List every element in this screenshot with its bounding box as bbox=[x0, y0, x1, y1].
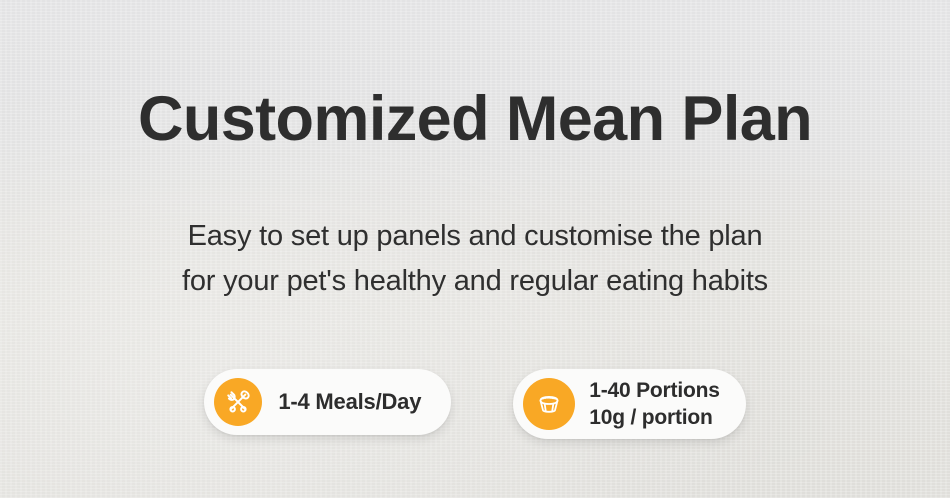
badge-meals-per-day[interactable]: 1-4 Meals/Day bbox=[204, 369, 451, 435]
badge-portions-line-1: 1-40 Portions bbox=[589, 377, 719, 404]
hero-subtitle-line-2: for your pet's healthy and regular eatin… bbox=[0, 259, 950, 304]
badge-portions[interactable]: 1-40 Portions 10g / portion bbox=[513, 369, 745, 439]
hero-subtitle-line-1: Easy to set up panels and customise the … bbox=[0, 214, 950, 259]
hero-subtitle: Easy to set up panels and customise the … bbox=[0, 214, 950, 304]
pet-food-bowl-icon bbox=[523, 378, 575, 430]
utensils-icon bbox=[214, 378, 262, 426]
hero-banner: Customized Mean Plan Easy to set up pane… bbox=[0, 0, 950, 498]
page-title: Customized Mean Plan bbox=[0, 86, 950, 152]
badge-portions-line-2: 10g / portion bbox=[589, 404, 719, 431]
badge-meals-label: 1-4 Meals/Day bbox=[278, 389, 421, 415]
badge-portions-label: 1-40 Portions 10g / portion bbox=[589, 377, 719, 431]
feature-badge-row: 1-4 Meals/Day 1-40 Portions 10g / port bbox=[0, 369, 950, 439]
hero-content: Customized Mean Plan Easy to set up pane… bbox=[0, 0, 950, 498]
